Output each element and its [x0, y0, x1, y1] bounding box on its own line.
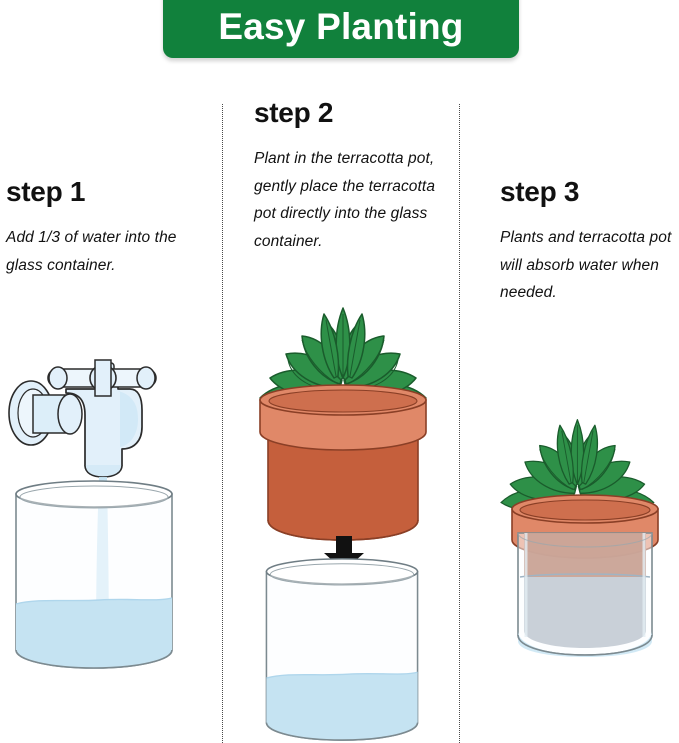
step-2-glass-jar	[256, 556, 428, 742]
infographic-canvas: Easy Planting step 1 Add 1/3 of water in…	[0, 0, 679, 743]
step-1-title: step 1	[6, 176, 85, 208]
panel-divider-1	[222, 104, 223, 743]
step-1-body: Add 1/3 of water into the glass containe…	[6, 224, 201, 279]
faucet-handle-icon	[48, 360, 156, 396]
terracotta-pot-icon	[260, 385, 426, 540]
banner-title: Easy Planting	[218, 0, 463, 45]
glass-jar-icon	[266, 559, 417, 740]
glass-jar-icon	[518, 533, 652, 657]
step-2-title: step 2	[254, 97, 333, 129]
step-3-body: Plants and terracotta pot will absorb wa…	[500, 224, 679, 307]
title-banner: Easy Planting	[163, 0, 519, 58]
step-3-assembly	[500, 405, 670, 665]
step-1-glass-jar	[8, 478, 180, 670]
glass-jar-icon	[16, 481, 172, 668]
step-2-potted-plant	[248, 292, 438, 542]
faucet-icon	[9, 360, 156, 477]
step-3-title: step 3	[500, 176, 579, 208]
step-2-body: Plant in the terracotta pot, gently plac…	[254, 145, 439, 255]
panel-divider-2	[459, 104, 460, 743]
